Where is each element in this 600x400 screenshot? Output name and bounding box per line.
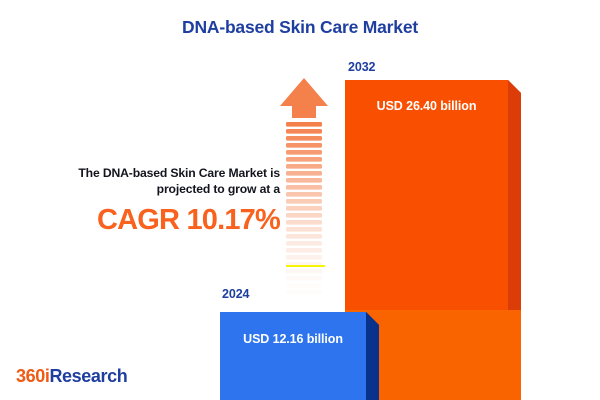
bar-2024: USD 12.16 billion [220, 312, 392, 400]
bar-year-label-2024: 2024 [222, 287, 249, 301]
infographic-canvas: DNA-based Skin Care Market The DNA-based… [0, 0, 600, 400]
bar-2024-front-face [220, 312, 366, 400]
cagr-value-text: CAGR 10.17% [12, 204, 280, 236]
cagr-lead-text: The DNA-based Skin Care Market is projec… [12, 165, 280, 197]
brand-logo: 360iResearch [16, 366, 127, 387]
bar-value-label-2024: USD 12.16 billion [220, 332, 366, 346]
bar-year-label-2032: 2032 [348, 60, 375, 74]
brand-logo-part-2: Research [49, 366, 127, 386]
bar-value-label-2032: USD 26.40 billion [345, 99, 508, 113]
page-title: DNA-based Skin Care Market [0, 17, 600, 38]
brand-logo-part-1: 360i [16, 366, 49, 386]
cagr-lead-line-1: The DNA-based Skin Care Market is [78, 166, 280, 180]
growth-arrow-icon [278, 76, 330, 296]
cagr-callout: The DNA-based Skin Care Market is projec… [12, 165, 280, 236]
render-artifact-line [286, 265, 325, 267]
cagr-lead-line-2: projected to grow at a [157, 182, 280, 196]
